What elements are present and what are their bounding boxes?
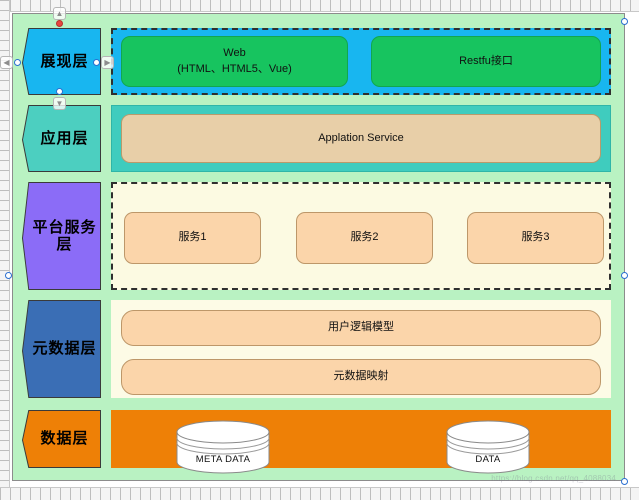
user-logic-model-pill[interactable]: 用户逻辑模型 <box>121 310 601 346</box>
rotate-handle-top[interactable]: ▲ <box>53 7 66 20</box>
ruler-top <box>0 0 639 12</box>
data-cylinder-label: DATA <box>443 454 533 465</box>
diagram-canvas[interactable]: 展现层 Web(HTML、HTML5、Vue) Restfu接口 应用层 App… <box>12 13 625 481</box>
metadata-mapping-text: 元数据映射 <box>334 369 389 385</box>
metadata-mapping-pill[interactable]: 元数据映射 <box>121 359 601 395</box>
connection-handle-top[interactable] <box>56 20 63 27</box>
arrow-handle-left[interactable]: ◀ <box>0 56 13 69</box>
web-box-text: Web(HTML、HTML5、Vue) <box>177 46 292 78</box>
layer-tag-metadata-text-wrap: 元数据层 <box>22 300 101 398</box>
restful-box-text: Restfu接口 <box>459 54 513 70</box>
ruler-left <box>0 0 10 500</box>
meta-data-cylinder[interactable]: META DATA <box>173 418 273 474</box>
arrow-handle-right[interactable]: ▶ <box>101 56 114 69</box>
web-box[interactable]: Web(HTML、HTML5、Vue) <box>121 36 348 87</box>
arrow-right-glyph: ▶ <box>104 59 110 67</box>
watermark: https://blog.csdn.net/qq_4088034 <box>491 474 616 483</box>
layer-label-metadata: 元数据层 <box>26 340 96 357</box>
arrow-left-glyph: ◀ <box>3 59 9 67</box>
canvas-handle-bottom-right[interactable] <box>621 478 628 485</box>
service-box-2[interactable]: 服务2 <box>296 212 433 264</box>
diagram-screenshot: 展现层 Web(HTML、HTML5、Vue) Restfu接口 应用层 App… <box>0 0 639 500</box>
connection-handle-bottom[interactable] <box>56 88 63 95</box>
layer-tag-platform-service-text-wrap: 平台服务层 <box>22 182 101 290</box>
service-box-1[interactable]: 服务1 <box>124 212 261 264</box>
connection-handle-right[interactable] <box>93 59 100 66</box>
application-service-text: Applation Service <box>318 131 404 147</box>
meta-data-cylinder-shape <box>173 418 273 474</box>
data-cylinder-shape <box>443 418 533 474</box>
canvas-handle-top-right[interactable] <box>621 18 628 25</box>
layer-label-platform-service: 平台服务层 <box>22 219 101 254</box>
meta-data-cylinder-label: META DATA <box>173 454 273 465</box>
canvas-handle-right-mid[interactable] <box>621 272 628 279</box>
layer-tag-data-text-wrap: 数据层 <box>22 410 101 468</box>
data-cylinder[interactable]: DATA <box>443 418 533 474</box>
rotate-handle-bottom[interactable]: ▼ <box>53 97 66 110</box>
layer-label-presentation: 展现层 <box>34 53 88 70</box>
service-box-3-text: 服务3 <box>521 230 549 246</box>
service-box-3[interactable]: 服务3 <box>467 212 604 264</box>
rotate-bottom-glyph: ▼ <box>56 100 64 108</box>
restful-box[interactable]: Restfu接口 <box>371 36 601 87</box>
connection-handle-left[interactable] <box>14 59 21 66</box>
application-service-box[interactable]: Applation Service <box>121 114 601 163</box>
layer-label-data: 数据层 <box>34 430 88 447</box>
layer-tag-presentation-text-wrap: 展现层 <box>22 28 101 95</box>
rotate-top-glyph: ▲ <box>56 10 64 18</box>
ruler-bottom <box>0 487 639 500</box>
canvas-handle-left-mid[interactable] <box>5 272 12 279</box>
service-box-2-text: 服务2 <box>350 230 378 246</box>
service-box-1-text: 服务1 <box>178 230 206 246</box>
layer-tag-application-text-wrap: 应用层 <box>22 105 101 172</box>
layer-label-application: 应用层 <box>34 130 88 147</box>
user-logic-model-text: 用户逻辑模型 <box>328 320 394 336</box>
